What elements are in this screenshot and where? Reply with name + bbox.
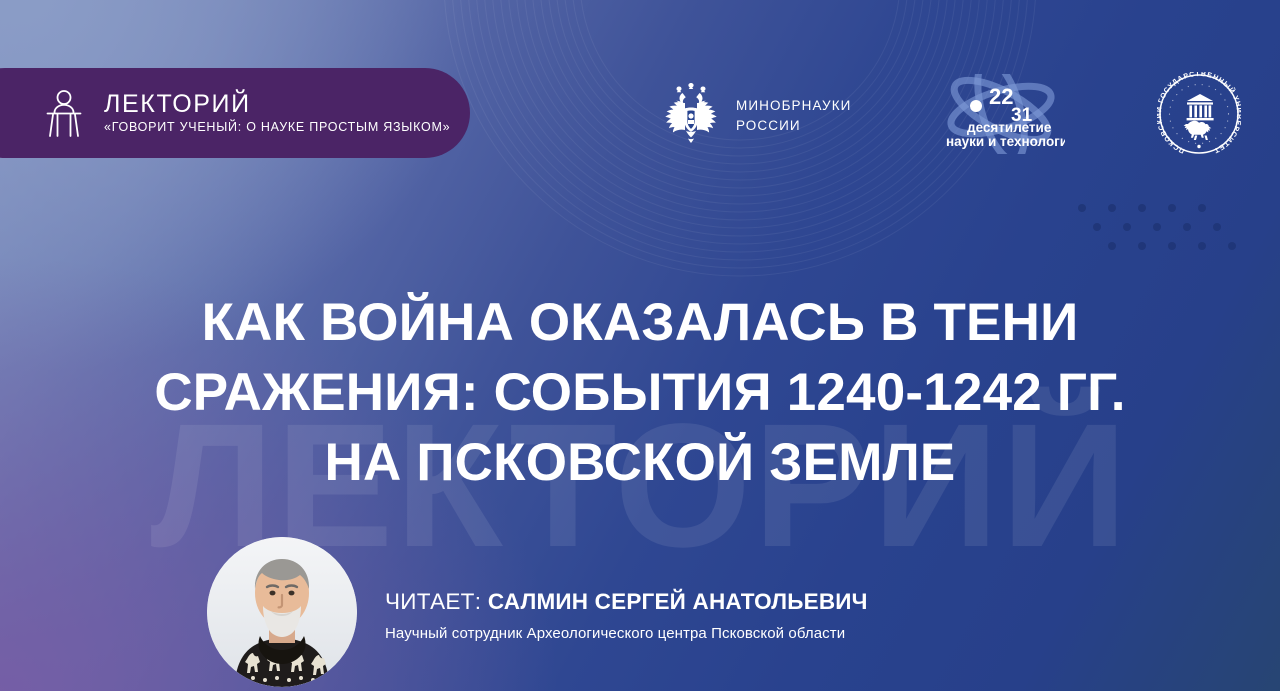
pskov-university-logo: ПСКОВСКИЙ ГОСУДАРСТВЕННЫЙ УНИВЕРСИТЕТ — [1157, 72, 1241, 161]
lectern-speaker-icon — [44, 89, 84, 137]
badge-title: ЛЕКТОРИЙ — [104, 92, 450, 117]
lecture-announcement-poster: ЛЕКТОРИЙ ЛЕКТОРИЙ «ГОВОРИТ УЧЕНЫЙ: О НАУ… — [0, 0, 1280, 691]
title-line-2: СРАЖЕНИЯ: СОБЫТИЯ 1240-1242 ГГ. — [34, 358, 1246, 428]
avatar — [207, 537, 357, 687]
page-title: КАК ВОЙНА ОКАЗАЛАСЬ В ТЕНИ СРАЖЕНИЯ: СОБ… — [0, 288, 1280, 498]
speaker-name: САЛМИН СЕРГЕЙ АНАТОЛЬЕВИЧ — [488, 589, 868, 614]
dot-grid-decoration — [1074, 200, 1254, 266]
speaker-name-line: ЧИТАЕТ: САЛМИН СЕРГЕЙ АНАТОЛЬЕВИЧ — [385, 591, 868, 614]
svg-text:22: 22 — [989, 84, 1013, 109]
russian-double-headed-eagle-icon — [660, 81, 722, 152]
minobrnauki-line2: РОССИИ — [736, 118, 851, 134]
atom-orbit-icon: 22 31 десятилетие науки и технологий — [937, 74, 1065, 159]
badge-subtitle: «ГОВОРИТ УЧЕНЫЙ: О НАУКЕ ПРОСТЫМ ЯЗЫКОМ» — [104, 121, 450, 134]
speaker-role: Научный сотрудник Археологического центр… — [385, 626, 868, 641]
title-line-1: КАК ВОЙНА ОКАЗАЛАСЬ В ТЕНИ — [34, 288, 1246, 358]
pskov-state-university-seal-icon: ПСКОВСКИЙ ГОСУДАРСТВЕННЫЙ УНИВЕРСИТЕТ — [1157, 72, 1241, 161]
svg-text:десятилетие: десятилетие — [967, 120, 1052, 135]
title-line-3: НА ПСКОВСКОЙ ЗЕМЛЕ — [34, 428, 1246, 498]
partner-logos: МИНОБРНАУКИ РОССИИ 22 31 десятилетие нау… — [660, 72, 1241, 160]
svg-text:науки и технологий: науки и технологий — [946, 134, 1065, 149]
speaker-block: ЧИТАЕТ: САЛМИН СЕРГЕЙ АНАТОЛЬЕВИЧ Научны… — [207, 537, 868, 687]
reads-label: ЧИТАЕТ: — [385, 589, 481, 614]
decade-of-science-logo: 22 31 десятилетие науки и технологий — [937, 74, 1065, 159]
minobrnauki-logo: МИНОБРНАУКИ РОССИИ — [660, 81, 851, 152]
lectory-badge: ЛЕКТОРИЙ «ГОВОРИТ УЧЕНЫЙ: О НАУКЕ ПРОСТЫ… — [0, 68, 470, 158]
minobrnauki-line1: МИНОБРНАУКИ — [736, 98, 851, 114]
